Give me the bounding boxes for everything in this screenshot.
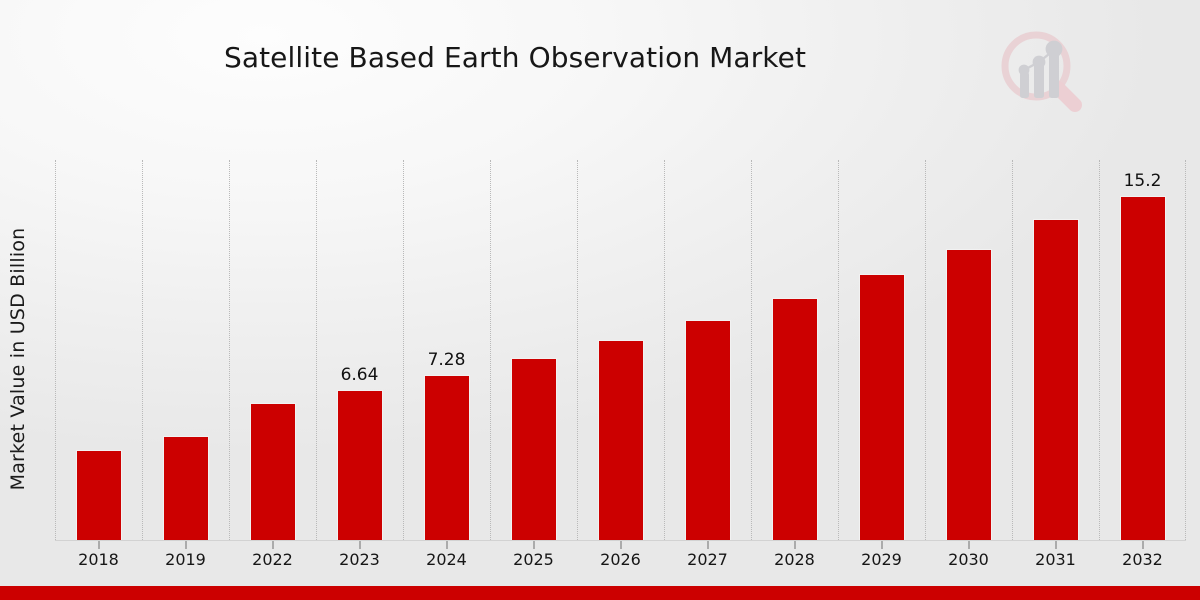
magnifier-bar-chart-logo-icon — [993, 24, 1089, 120]
x-tick-label-2029: 2029 — [838, 550, 925, 569]
bar-slot: 7.28 — [403, 160, 490, 540]
x-axis-tick — [881, 541, 882, 549]
x-axis-tick — [968, 541, 969, 549]
x-tick-label-2027: 2027 — [664, 550, 751, 569]
x-tick-label-2018: 2018 — [55, 550, 142, 569]
bar-slot — [838, 160, 925, 540]
bar-2027[interactable] — [685, 320, 731, 540]
bar-2022[interactable] — [250, 403, 296, 540]
x-tick-label-2030: 2030 — [925, 550, 1012, 569]
x-axis-tick — [359, 541, 360, 549]
bar-2028[interactable] — [772, 298, 818, 540]
bar-slot — [142, 160, 229, 540]
bar-slot — [1012, 160, 1099, 540]
x-tick-label-2022: 2022 — [229, 550, 316, 569]
bar-slot — [925, 160, 1012, 540]
x-axis-tick-labels: 2018201920222023202420252026202720282029… — [55, 550, 1186, 569]
x-tick-label-2019: 2019 — [142, 550, 229, 569]
x-axis-tick — [1055, 541, 1056, 549]
x-axis-tick — [794, 541, 795, 549]
bar-slot — [751, 160, 838, 540]
x-axis-tick — [1142, 541, 1143, 549]
x-tick-label-2025: 2025 — [490, 550, 577, 569]
bar-slot: 15.2 — [1099, 160, 1186, 540]
chart-plot: Market Value in USD Billion 6.647.2815.2… — [0, 150, 1200, 586]
y-axis-label: Market Value in USD Billion — [7, 159, 29, 559]
bar-2026[interactable] — [598, 340, 644, 540]
x-tick-label-2026: 2026 — [577, 550, 664, 569]
bar-2023[interactable] — [337, 390, 383, 540]
chart-header: Satellite Based Earth Observation Market — [0, 0, 1200, 150]
x-axis-tick — [272, 541, 273, 549]
x-tick-label-2028: 2028 — [751, 550, 838, 569]
x-tick-label-2023: 2023 — [316, 550, 403, 569]
x-tick-label-2031: 2031 — [1012, 550, 1099, 569]
bar-value-label-2023: 6.64 — [341, 365, 379, 385]
x-tick-label-2032: 2032 — [1099, 550, 1186, 569]
bar-2025[interactable] — [511, 358, 557, 540]
bar-value-label-2024: 7.28 — [428, 350, 466, 370]
bar-slot: 6.64 — [316, 160, 403, 540]
bar-2024[interactable] — [424, 375, 470, 540]
bar-2029[interactable] — [859, 274, 905, 540]
x-tick-label-2024: 2024 — [403, 550, 490, 569]
bar-slot — [55, 160, 142, 540]
bar-2018[interactable] — [76, 450, 122, 540]
bar-2030[interactable] — [946, 249, 992, 540]
x-axis-tick — [98, 541, 99, 549]
bar-slot — [577, 160, 664, 540]
x-axis-tick — [185, 541, 186, 549]
page-title: Satellite Based Earth Observation Market — [0, 41, 1030, 74]
bar-slot — [664, 160, 751, 540]
bar-slot — [229, 160, 316, 540]
footer-accent-band — [0, 586, 1200, 600]
bar-slot — [490, 160, 577, 540]
x-axis-tick — [533, 541, 534, 549]
bar-value-label-2032: 15.2 — [1124, 171, 1162, 191]
bar-2019[interactable] — [163, 436, 209, 540]
x-axis-tick — [446, 541, 447, 549]
bar-2031[interactable] — [1033, 219, 1079, 540]
x-axis-tick — [707, 541, 708, 549]
chart-page: Satellite Based Earth Observation Market — [0, 0, 1200, 600]
x-axis-tick — [620, 541, 621, 549]
bar-2032[interactable] — [1120, 196, 1166, 540]
bar-series: 6.647.2815.2 — [55, 160, 1186, 540]
